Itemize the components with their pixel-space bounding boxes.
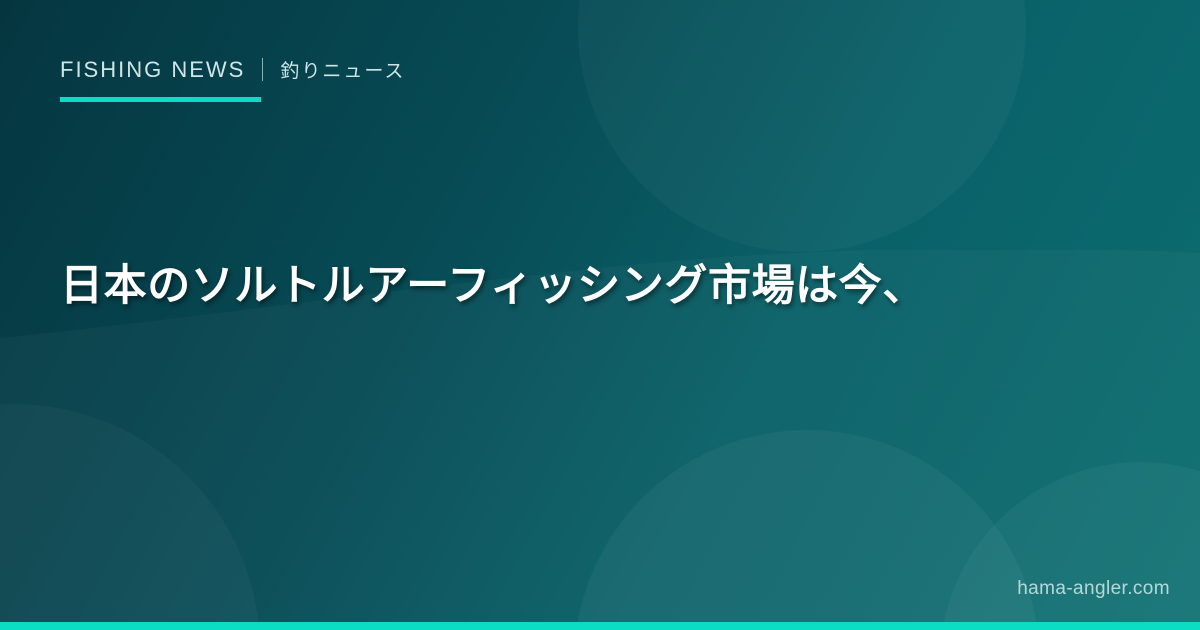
circle-shape-bottom-middle [574, 430, 1040, 630]
og-social-card: FISHING NEWS 釣りニュース 日本のソルトルアーフィッシング市場は今、… [0, 0, 1200, 630]
kicker: FISHING NEWS 釣りニュース [60, 56, 405, 83]
circle-shape-top-right [578, 0, 1026, 252]
circle-shape-bottom-left [0, 404, 260, 630]
kicker-separator-icon [262, 58, 263, 81]
site-watermark: hama-angler.com [1017, 578, 1170, 600]
kicker-label-english: FISHING NEWS [60, 57, 245, 83]
kicker-accent-underline [60, 97, 261, 102]
headline-title: 日本のソルトルアーフィッシング市場は今、 [60, 256, 1080, 317]
kicker-label-japanese: 釣りニュース [280, 56, 405, 83]
circle-shape-bottom-right [940, 462, 1200, 630]
bottom-accent-bar [0, 622, 1200, 630]
